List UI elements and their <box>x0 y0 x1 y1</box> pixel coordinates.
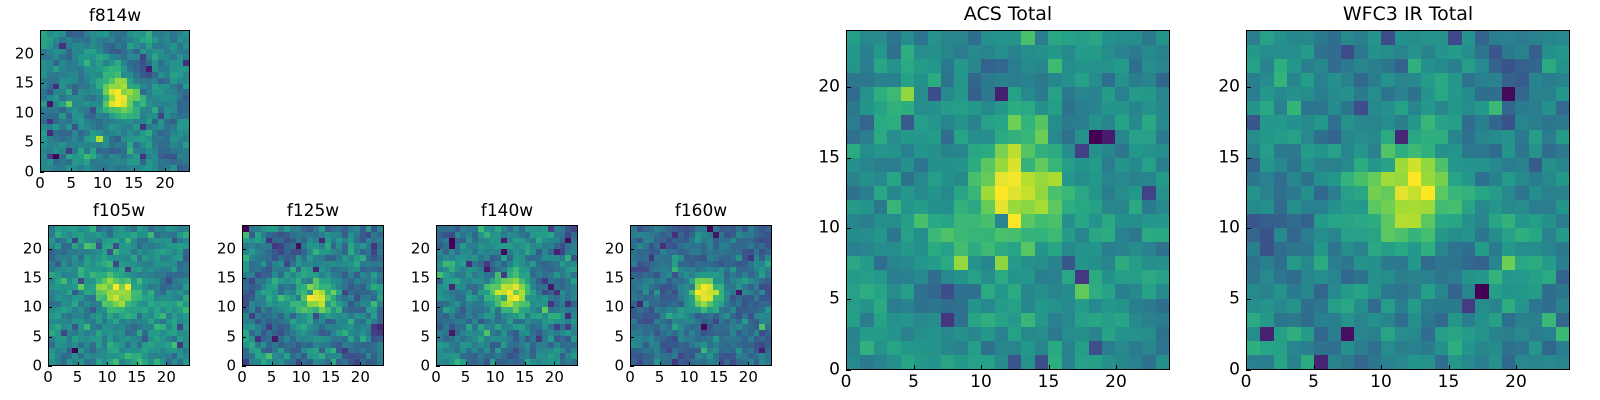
heatmap-cell <box>1075 172 1088 186</box>
panel-title-f140w: f140w <box>436 203 578 220</box>
heatmap-cell <box>968 228 981 242</box>
x-tick-label: 0 <box>625 370 635 385</box>
heatmap-cell <box>1542 327 1555 341</box>
heatmap-cell <box>1368 130 1381 144</box>
heatmap-cell <box>1021 59 1034 73</box>
heatmap-cell <box>1062 299 1075 313</box>
heatmap-cell <box>1062 355 1075 369</box>
heatmap-cell <box>1354 200 1367 214</box>
heatmap-cell <box>901 172 914 186</box>
heatmap-cell <box>941 242 954 256</box>
heatmap-cell <box>1048 158 1061 172</box>
heatmap-cell <box>874 31 887 45</box>
x-tick-label: 15 <box>321 370 340 385</box>
heatmap-cell <box>1247 73 1260 87</box>
heatmap-cell <box>1529 284 1542 298</box>
heatmap-cell <box>1129 172 1142 186</box>
heatmap-cell <box>1341 45 1354 59</box>
heatmap-cell <box>968 45 981 59</box>
heatmap-cell <box>1515 313 1528 327</box>
heatmap-cell <box>1381 228 1394 242</box>
heatmap-cell <box>1142 200 1155 214</box>
heatmap-cell <box>1515 87 1528 101</box>
heatmap-cell <box>1008 242 1021 256</box>
heatmap-cell <box>901 144 914 158</box>
heatmap-cell <box>981 270 994 284</box>
heatmap-cell <box>1035 73 1048 87</box>
heatmap-cell <box>1274 186 1287 200</box>
heatmap-cell <box>1475 158 1488 172</box>
heatmap-cell <box>1247 59 1260 73</box>
y-tick-label: 5 <box>226 329 236 344</box>
heatmap-cell <box>1062 341 1075 355</box>
heatmap-cell <box>1008 270 1021 284</box>
heatmap-cell <box>1395 256 1408 270</box>
heatmap-cell <box>1115 341 1128 355</box>
heatmap-cell <box>860 242 873 256</box>
heatmap-cell <box>1354 313 1367 327</box>
heatmap-cell <box>1421 327 1434 341</box>
heatmap-cell <box>1008 327 1021 341</box>
heatmap-cell <box>1395 242 1408 256</box>
x-tick <box>166 362 167 366</box>
heatmap-cell <box>1489 327 1502 341</box>
heatmap-cell <box>928 45 941 59</box>
heatmap-cell <box>1462 87 1475 101</box>
heatmap-cell <box>1542 73 1555 87</box>
x-tick-label: 10 <box>680 370 699 385</box>
heatmap-cell <box>981 59 994 73</box>
heatmap-cell <box>1435 270 1448 284</box>
heatmap-cell <box>1115 355 1128 369</box>
heatmap-cell <box>1421 256 1434 270</box>
heatmap-cell <box>1368 214 1381 228</box>
heatmap-cell <box>1062 59 1075 73</box>
heatmap-cell <box>1395 214 1408 228</box>
heatmap-cell <box>1328 228 1341 242</box>
heatmap-cell <box>1287 73 1300 87</box>
heatmap-cell <box>1021 186 1034 200</box>
heatmap-cell <box>1354 144 1367 158</box>
heatmap-cell <box>1287 59 1300 73</box>
heatmap-cell <box>1035 242 1048 256</box>
heatmap-cell <box>1354 45 1367 59</box>
heatmap-cell <box>1475 284 1488 298</box>
heatmap-cell <box>1381 45 1394 59</box>
heatmap-cell <box>1354 115 1367 129</box>
heatmap-cell <box>1502 87 1515 101</box>
heatmap-cell <box>1314 73 1327 87</box>
heatmap-cell <box>1142 214 1155 228</box>
heatmap-cell <box>1021 158 1034 172</box>
heatmap-cell <box>1462 270 1475 284</box>
x-tick <box>981 365 982 370</box>
heatmap-cell <box>1129 228 1142 242</box>
heatmap-cell <box>1075 115 1088 129</box>
heatmap-cell <box>1354 256 1367 270</box>
heatmap-cell <box>1489 200 1502 214</box>
heatmap-cell <box>995 355 1008 369</box>
heatmap-cell <box>1489 270 1502 284</box>
heatmap-cell <box>1381 158 1394 172</box>
heatmap-cell <box>1062 313 1075 327</box>
heatmap-cell <box>1448 256 1461 270</box>
y-tick <box>242 307 246 308</box>
heatmap-cell <box>1287 31 1300 45</box>
panel-f105w: f105w0510152005101520 <box>48 225 190 366</box>
heatmap-cell <box>1368 299 1381 313</box>
heatmap-cell <box>1529 355 1542 369</box>
heatmap-cell <box>1062 242 1075 256</box>
x-tick-label: 20 <box>157 370 176 385</box>
heatmap-cell <box>1089 228 1102 242</box>
heatmap-cell <box>941 327 954 341</box>
heatmap-cell <box>1274 130 1287 144</box>
heatmap-cell <box>1035 214 1048 228</box>
heatmap-cell <box>1048 130 1061 144</box>
axes-f105w <box>48 225 190 366</box>
heatmap-cell <box>1142 186 1155 200</box>
heatmap-cell <box>914 130 927 144</box>
heatmap-cell <box>1314 313 1327 327</box>
heatmap-cell <box>1156 73 1169 87</box>
heatmap-cell <box>1381 299 1394 313</box>
heatmap-cell <box>1062 186 1075 200</box>
heatmap-cell <box>1062 130 1075 144</box>
heatmap-cell <box>1247 355 1260 369</box>
heatmap-cell <box>1035 355 1048 369</box>
heatmap-cell <box>847 87 860 101</box>
heatmap-cell <box>1556 299 1569 313</box>
heatmap-cell <box>1489 130 1502 144</box>
heatmap-cell <box>1448 115 1461 129</box>
heatmap-cell <box>1142 59 1155 73</box>
heatmap-cell <box>941 59 954 73</box>
heatmap-cell <box>1421 242 1434 256</box>
heatmap-cell <box>1328 270 1341 284</box>
panel-title-acs_total: ACS Total <box>846 5 1170 24</box>
heatmap-cell <box>874 101 887 115</box>
heatmap-cell <box>1156 270 1169 284</box>
y-tick <box>40 83 44 84</box>
y-tick <box>846 158 851 159</box>
figure-canvas: f814w0510152005101520f105w05101520051015… <box>0 0 1600 400</box>
panel-title-wfc3_ir_total: WFC3 IR Total <box>1246 5 1570 24</box>
heatmap-cell <box>1301 313 1314 327</box>
heatmap-cell <box>1129 130 1142 144</box>
heatmap-cell <box>1502 341 1515 355</box>
y-tick-label: 10 <box>217 300 236 315</box>
heatmap-cell <box>1435 200 1448 214</box>
heatmap-cell <box>995 327 1008 341</box>
heatmap-cell <box>1142 115 1155 129</box>
heatmap-cell <box>1314 130 1327 144</box>
heatmap-cell <box>1142 341 1155 355</box>
heatmap-cell <box>1556 214 1569 228</box>
heatmap-cell <box>995 186 1008 200</box>
heatmap-cell <box>183 165 189 171</box>
heatmap-cell <box>1102 214 1115 228</box>
heatmap-cell <box>1448 45 1461 59</box>
heatmap-cell <box>1556 115 1569 129</box>
heatmap-cell <box>1035 101 1048 115</box>
heatmap-cell <box>1556 186 1569 200</box>
heatmap-cell <box>1301 228 1314 242</box>
heatmap-cell <box>1260 59 1273 73</box>
heatmap-cell <box>968 172 981 186</box>
heatmap-cell <box>1448 158 1461 172</box>
heatmap-cell <box>1395 87 1408 101</box>
heatmap-cell <box>1502 45 1515 59</box>
x-tick-label: 10 <box>970 374 992 391</box>
heatmap-cell <box>860 45 873 59</box>
heatmap-cell <box>1475 45 1488 59</box>
heatmap-cell <box>1435 299 1448 313</box>
heatmap-cell <box>995 228 1008 242</box>
heatmap-cell <box>1448 355 1461 369</box>
heatmap-cell <box>1129 242 1142 256</box>
heatmap-cell <box>1556 158 1569 172</box>
heatmap-cell <box>1142 270 1155 284</box>
heatmap-cell <box>1475 31 1488 45</box>
heatmap-cell <box>954 130 967 144</box>
heatmap-cell <box>1287 186 1300 200</box>
heatmap-cell <box>1381 31 1394 45</box>
heatmap-cell <box>1381 242 1394 256</box>
heatmap-cell <box>1075 45 1088 59</box>
panel-f814w: f814w0510152005101520 <box>40 30 190 172</box>
heatmap-cell <box>1328 115 1341 129</box>
heatmap-cell <box>1408 341 1421 355</box>
heatmap-cell <box>1368 327 1381 341</box>
heatmap-cell <box>928 158 941 172</box>
heatmap-cell <box>1048 327 1061 341</box>
heatmap-cell <box>1247 158 1260 172</box>
heatmap-cell <box>1062 327 1075 341</box>
heatmap-cell <box>1102 158 1115 172</box>
heatmap-cell <box>887 115 900 129</box>
heatmap-cell <box>1260 45 1273 59</box>
y-tick-label: 10 <box>818 220 840 237</box>
heatmap-cell <box>954 256 967 270</box>
heatmap-cell <box>1287 256 1300 270</box>
heatmap-cell <box>1129 158 1142 172</box>
y-tick <box>48 249 52 250</box>
heatmap-cell <box>1395 31 1408 45</box>
heatmap-cell <box>981 172 994 186</box>
heatmap-cell <box>1448 87 1461 101</box>
heatmap-cell <box>1462 284 1475 298</box>
heatmap-cell <box>847 172 860 186</box>
heatmap-cell <box>1142 158 1155 172</box>
heatmap-cell <box>928 101 941 115</box>
heatmap-cell <box>1368 355 1381 369</box>
heatmap-cell <box>847 228 860 242</box>
heatmap-cell <box>1062 256 1075 270</box>
heatmap-cell <box>1435 59 1448 73</box>
heatmap-cell <box>1102 228 1115 242</box>
heatmap-cell <box>1556 313 1569 327</box>
heatmap-cell <box>1102 130 1115 144</box>
heatmap-cell <box>928 327 941 341</box>
heatmap-cell <box>1529 256 1542 270</box>
x-tick-label: 0 <box>43 370 53 385</box>
heatmap-cell <box>860 73 873 87</box>
heatmap-cell <box>1035 59 1048 73</box>
heatmap-cell <box>874 256 887 270</box>
heatmap-cell <box>1462 130 1475 144</box>
heatmap-cell <box>1368 101 1381 115</box>
heatmap-cell <box>1341 115 1354 129</box>
heatmap-cell <box>1381 327 1394 341</box>
axes-f125w <box>242 225 384 366</box>
heatmap-cell <box>1089 270 1102 284</box>
heatmap-cell <box>1035 256 1048 270</box>
heatmap-cell <box>1408 270 1421 284</box>
heatmap-cell <box>1515 59 1528 73</box>
heatmap-cell <box>995 256 1008 270</box>
heatmap-cell <box>928 270 941 284</box>
x-tick-label: 0 <box>237 370 247 385</box>
heatmap-cell <box>1115 186 1128 200</box>
heatmap-cell <box>1368 158 1381 172</box>
heatmap-cell <box>1142 87 1155 101</box>
heatmap-cell <box>1475 313 1488 327</box>
heatmap-cell <box>1489 313 1502 327</box>
heatmap-cell <box>1260 144 1273 158</box>
heatmap-cell <box>1115 242 1128 256</box>
heatmap-cell <box>954 214 967 228</box>
heatmap-cell <box>1489 31 1502 45</box>
heatmap-cell <box>847 158 860 172</box>
heatmap-cell <box>995 87 1008 101</box>
heatmap-cell <box>1408 158 1421 172</box>
heatmap-cell <box>1021 115 1034 129</box>
heatmap-cell <box>954 87 967 101</box>
heatmap-cell <box>1301 87 1314 101</box>
heatmap-cell <box>901 158 914 172</box>
heatmap-cell <box>874 200 887 214</box>
heatmap-cell <box>941 214 954 228</box>
heatmap-cell <box>1395 284 1408 298</box>
heatmap-cell <box>1075 214 1088 228</box>
heatmap-cell <box>1408 355 1421 369</box>
heatmap-cell <box>1529 130 1542 144</box>
heatmap-cell <box>1035 341 1048 355</box>
heatmap-cell <box>968 299 981 313</box>
y-tick-label: 5 <box>24 135 34 150</box>
heatmap-cell <box>1421 313 1434 327</box>
y-tick <box>48 337 52 338</box>
y-tick <box>40 113 44 114</box>
heatmap-cell <box>1341 256 1354 270</box>
heatmap-cell <box>1102 313 1115 327</box>
heatmap-cell <box>968 144 981 158</box>
heatmap-cell <box>1542 101 1555 115</box>
heatmap-cell <box>1354 172 1367 186</box>
heatmap-cell <box>1115 299 1128 313</box>
heatmap-cell <box>901 284 914 298</box>
heatmap-cell <box>901 327 914 341</box>
heatmap-cell <box>874 130 887 144</box>
heatmap-cell <box>1247 87 1260 101</box>
x-tick-label: 15 <box>1038 374 1060 391</box>
y-tick <box>1246 87 1251 88</box>
heatmap-cell <box>941 284 954 298</box>
y-tick <box>846 228 851 229</box>
heatmap-cell <box>1314 87 1327 101</box>
heatmap-cell <box>1314 341 1327 355</box>
heatmap-cell <box>1247 284 1260 298</box>
heatmap-cell <box>941 158 954 172</box>
heatmap-cell <box>1129 144 1142 158</box>
heatmap-cell <box>1462 228 1475 242</box>
heatmap-cell <box>914 73 927 87</box>
heatmap-cell <box>1462 186 1475 200</box>
heatmap-cell <box>1156 200 1169 214</box>
heatmap-cell <box>1314 242 1327 256</box>
heatmap-cell <box>1328 284 1341 298</box>
x-tick-label: 15 <box>127 370 146 385</box>
y-tick-label: 15 <box>1218 149 1240 166</box>
heatmap-cell <box>1301 130 1314 144</box>
heatmap-cell <box>1035 270 1048 284</box>
y-tick <box>846 299 851 300</box>
heatmap-cell <box>1502 284 1515 298</box>
heatmap-cell <box>1462 242 1475 256</box>
heatmap-cell <box>1435 73 1448 87</box>
heatmap-cell <box>995 101 1008 115</box>
heatmap-cell <box>1529 299 1542 313</box>
heatmap-cell <box>1408 214 1421 228</box>
axes-f140w <box>436 225 578 366</box>
heatmap-cell <box>995 284 1008 298</box>
heatmap-cell <box>954 158 967 172</box>
heatmap-cell <box>847 313 860 327</box>
heatmap-cell <box>1489 299 1502 313</box>
y-tick <box>846 370 851 371</box>
heatmap-cell <box>901 242 914 256</box>
heatmap-cell <box>1075 87 1088 101</box>
heatmap-cell <box>1048 59 1061 73</box>
heatmap-cell <box>1260 101 1273 115</box>
heatmap-cell <box>1475 101 1488 115</box>
heatmap-cell <box>1048 101 1061 115</box>
heatmap-cell <box>1502 186 1515 200</box>
heatmap-cell <box>1515 186 1528 200</box>
heatmap-cell <box>1354 270 1367 284</box>
heatmap-cell <box>1368 341 1381 355</box>
heatmap-cell <box>1515 214 1528 228</box>
y-tick-label: 20 <box>411 241 430 256</box>
heatmap-cell <box>1395 130 1408 144</box>
x-tick <box>272 362 273 366</box>
heatmap-cell <box>1542 228 1555 242</box>
heatmap-cell <box>1089 130 1102 144</box>
heatmap-cell <box>1395 313 1408 327</box>
heatmap-cell <box>1556 200 1569 214</box>
heatmap-cell <box>1368 270 1381 284</box>
heatmap-cell <box>901 299 914 313</box>
heatmap-cell <box>1035 313 1048 327</box>
x-tick-label: 5 <box>461 370 471 385</box>
heatmap-cell <box>1542 299 1555 313</box>
x-tick <box>360 362 361 366</box>
heatmap-cell <box>1274 214 1287 228</box>
heatmap-cell <box>1021 214 1034 228</box>
heatmap-cell <box>981 327 994 341</box>
heatmap-cell <box>860 101 873 115</box>
